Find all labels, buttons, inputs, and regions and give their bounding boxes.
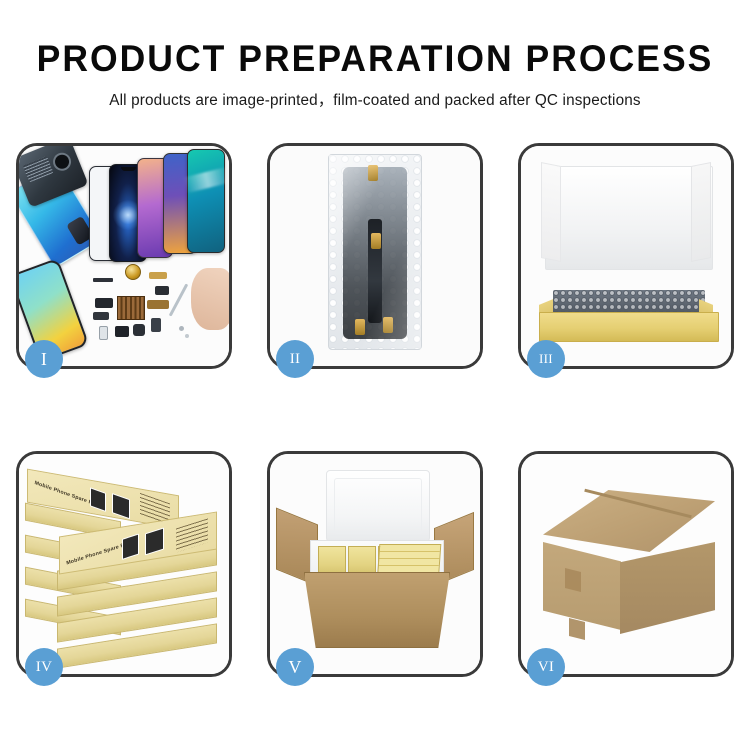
carton-body-icon	[304, 572, 450, 648]
gold-connector-icon	[355, 319, 365, 335]
box-window-icon	[145, 527, 164, 555]
carton-tape-patch-icon	[569, 618, 585, 640]
stacked-boxes-scene: Mobile Phone Spare Parts Mobile Phone Sp…	[19, 454, 229, 674]
box-lid-icon	[545, 166, 713, 270]
screw-icon	[185, 334, 189, 338]
tweezers-icon	[169, 283, 189, 316]
process-step-panel-5[interactable]: V	[267, 451, 483, 677]
box-window-icon	[122, 533, 139, 559]
step-badge-5: V	[276, 648, 314, 686]
phone-teal-gradient-icon	[187, 149, 225, 253]
box-lid-right-flap-icon	[691, 162, 711, 262]
screw-icon	[179, 326, 184, 331]
speaker-icon	[115, 326, 129, 337]
box-lid-left-flap-icon	[541, 162, 561, 262]
header: PRODUCT PREPARATION PROCESS All products…	[0, 0, 750, 110]
flex-cable-icon	[155, 286, 169, 295]
gold-connector-icon	[149, 272, 167, 279]
foam-box-lid-icon	[326, 470, 430, 542]
gold-connector-icon	[368, 165, 378, 181]
step-badge-4: IV	[25, 648, 63, 686]
step-badge-2: II	[276, 340, 314, 378]
step-badge-3: III	[527, 340, 565, 378]
process-step-panel-6[interactable]: VI	[518, 451, 734, 677]
step-badge-6: VI	[527, 648, 565, 686]
box-stack: Mobile Phone Spare Parts Mobile Phone Sp…	[19, 454, 229, 674]
process-step-panel-3[interactable]: III	[518, 143, 734, 369]
panel-6-image	[521, 454, 731, 674]
flex-cable-icon	[95, 298, 113, 308]
process-step-panel-1[interactable]: I	[16, 143, 232, 369]
page-subtitle: All products are image-printed，film-coat…	[0, 79, 750, 110]
carton-right-face-icon	[620, 542, 715, 634]
page-title: PRODUCT PREPARATION PROCESS	[15, 0, 735, 79]
panel-2-image	[270, 146, 480, 366]
product-preparation-infographic: PRODUCT PREPARATION PROCESS All products…	[0, 0, 750, 750]
carton-left-face-icon	[543, 542, 621, 630]
sim-tray-icon	[99, 326, 108, 340]
step-badge-1: I	[25, 340, 63, 378]
gold-connector-icon	[371, 233, 381, 249]
carton-with-foam-scene	[270, 454, 480, 674]
panel-5-image	[270, 454, 480, 674]
hand-icon	[191, 268, 229, 330]
process-steps-grid: I II	[16, 143, 735, 677]
spare-parts-cluster	[93, 264, 189, 354]
vibrator-motor-icon	[125, 264, 141, 280]
box-spec-lines	[176, 518, 208, 552]
screw-grid-icon	[117, 296, 145, 320]
yellow-box-front-icon	[539, 312, 719, 342]
process-step-panel-4[interactable]: Mobile Phone Spare Parts Mobile Phone Sp…	[16, 451, 232, 677]
box-window-icon	[112, 493, 130, 519]
bubble-wrapped-screen-scene	[270, 146, 480, 366]
process-step-panel-2[interactable]: II	[267, 143, 483, 369]
box-window-icon	[90, 487, 106, 512]
phone-parts-scene	[19, 146, 229, 366]
gold-connector-icon	[383, 317, 393, 333]
earpiece-bar-icon	[93, 278, 113, 282]
sealed-carton-scene	[521, 454, 731, 674]
panel-1-image	[19, 146, 229, 366]
bubble-bag-icon	[328, 154, 422, 350]
carton-tape-patch-icon	[565, 568, 581, 592]
panel-4-image: Mobile Phone Spare Parts Mobile Phone Sp…	[19, 454, 229, 674]
camera-module-icon	[133, 324, 145, 336]
flex-cable-icon	[93, 312, 109, 320]
gold-connector-icon	[147, 300, 169, 309]
battery-icon	[151, 318, 161, 332]
open-yellow-box-scene	[521, 146, 731, 366]
panel-3-image	[521, 146, 731, 366]
